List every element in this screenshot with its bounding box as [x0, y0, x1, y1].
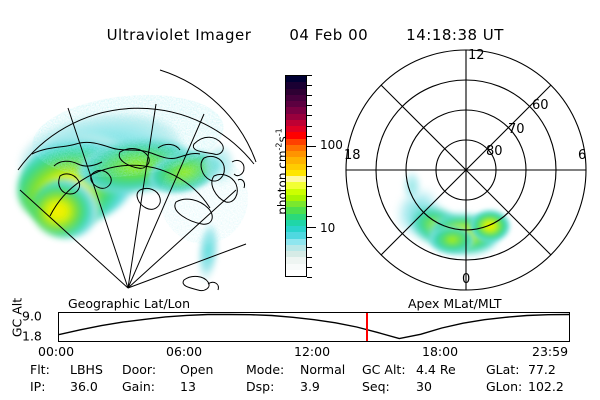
altitude-trace-line — [59, 315, 569, 339]
orbit-y-tick-label: 9.0 — [22, 308, 42, 323]
colorbar-tick — [307, 277, 312, 278]
mlt-label-18: 18 — [344, 148, 361, 163]
apex-panel-caption: Apex MLat/MLT — [408, 296, 502, 311]
status-footer: Flt:LBHSDoor:OpenMode:NormalGC Alt:4.4 R… — [0, 362, 600, 400]
status-label: Door: — [122, 362, 156, 377]
colorbar-tick — [307, 206, 312, 207]
colorbar-tick — [307, 85, 312, 86]
status-label: Flt: — [30, 362, 50, 377]
status-value: 4.4 Re — [416, 362, 456, 377]
status-label: GC Alt: — [362, 362, 406, 377]
mlt-label-0: 0 — [462, 272, 470, 287]
colorbar-tick — [307, 267, 312, 268]
status-value: Normal — [300, 362, 345, 377]
instrument-title: Ultraviolet Imager — [107, 26, 252, 44]
orbit-y-tick-label: 1.8 — [22, 329, 42, 344]
colorbar-tick — [307, 216, 312, 217]
colorbar-tick — [307, 105, 312, 106]
colorbar-tick — [307, 75, 312, 76]
status-value: 3.9 — [300, 379, 320, 394]
observation-time: 14:18:38 UT — [406, 26, 504, 44]
status-label: Gain: — [122, 379, 155, 394]
orbit-x-tick-label: 23:59 — [532, 344, 568, 359]
status-value: 102.2 — [528, 379, 564, 394]
mlat-label-70: 70 — [508, 122, 525, 137]
header-bar: Ultraviolet Imager04 Feb 0014:18:38 UT — [0, 8, 600, 44]
colorbar-tick — [307, 186, 312, 187]
geo-image-svg — [8, 48, 260, 296]
status-value: 13 — [180, 379, 196, 394]
apex-polar-plot[interactable]: 12 18 6 0 60 70 80 — [340, 44, 592, 296]
status-label: IP: — [30, 379, 45, 394]
orbit-x-tick-label: 00:00 — [38, 344, 74, 359]
colorbar-gradient — [285, 75, 307, 277]
orbit-x-tick-label: 06:00 — [166, 344, 202, 359]
status-value: 30 — [416, 379, 432, 394]
colorbar-tick — [307, 136, 312, 137]
colorbar-tick — [307, 237, 312, 238]
geographic-aurora-image[interactable] — [8, 48, 260, 296]
geographic-panel-caption: Geographic Lat/Lon — [68, 296, 190, 311]
current-time-marker — [366, 313, 368, 341]
status-value: 77.2 — [528, 362, 556, 377]
polar-plot-svg — [340, 44, 592, 296]
status-label: GLon: — [486, 379, 522, 394]
colorbar-tick — [307, 166, 312, 167]
observation-date: 04 Feb 00 — [289, 26, 368, 44]
status-value: 36.0 — [70, 379, 98, 394]
colorbar-tick — [307, 196, 312, 197]
orbit-plot-box[interactable] — [58, 312, 570, 342]
colorbar-tick — [307, 156, 312, 157]
colorbar-tick — [307, 176, 312, 177]
colorbar-tick — [307, 146, 316, 147]
mlt-label-6: 6 — [578, 148, 586, 163]
status-label: Mode: — [246, 362, 284, 377]
colorbar-ticks — [307, 75, 321, 277]
mlat-label-80: 80 — [486, 144, 503, 159]
orbit-altitude-panel[interactable]: Geographic Lat/Lon Apex MLat/MLT GC Alt … — [0, 296, 600, 358]
colorbar: photon cm-2s-1 10010 — [258, 60, 320, 292]
altitude-trace-svg — [59, 313, 569, 341]
mlt-label-12: 12 — [468, 48, 485, 63]
status-value: Open — [180, 362, 213, 377]
colorbar-tick — [307, 115, 312, 116]
aurora-oval-patch — [386, 170, 510, 257]
orbit-x-tick-label: 12:00 — [294, 344, 330, 359]
colorbar-tick — [307, 227, 316, 228]
colorbar-segment — [286, 270, 306, 276]
status-label: GLat: — [486, 362, 519, 377]
status-label: Dsp: — [246, 379, 274, 394]
colorbar-tick — [307, 95, 312, 96]
polar-grid — [346, 50, 586, 290]
colorbar-label-exp2: -1 — [275, 128, 284, 136]
status-value: LBHS — [70, 362, 103, 377]
status-label: Seq: — [362, 379, 390, 394]
colorbar-tick-label: 10 — [320, 221, 335, 235]
colorbar-label-exp1: -2 — [275, 142, 284, 150]
mlat-label-60: 60 — [532, 98, 549, 113]
colorbar-tick — [307, 247, 312, 248]
orbit-x-tick-label: 18:00 — [422, 344, 458, 359]
colorbar-tick — [307, 257, 312, 258]
colorbar-tick — [307, 126, 312, 127]
